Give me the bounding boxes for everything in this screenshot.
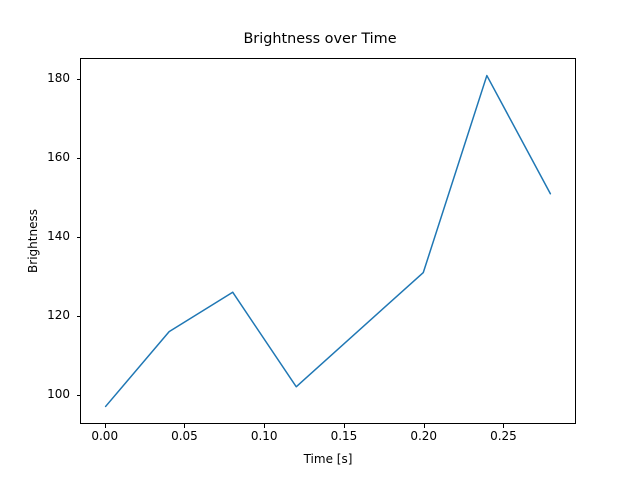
x-tick-label: 0.15 bbox=[314, 429, 374, 443]
x-tick-label: 0.25 bbox=[473, 429, 533, 443]
x-tick-mark bbox=[264, 424, 265, 428]
x-tick-label: 0.00 bbox=[75, 429, 135, 443]
plot-axes bbox=[80, 58, 576, 424]
x-tick-label: 0.20 bbox=[394, 429, 454, 443]
x-tick-mark bbox=[344, 424, 345, 428]
figure-canvas: Brightness over Time Brightness Time [s]… bbox=[0, 0, 640, 480]
x-tick-mark bbox=[105, 424, 106, 428]
data-series-brightness bbox=[106, 76, 551, 407]
x-tick-mark bbox=[503, 424, 504, 428]
x-tick-label: 0.10 bbox=[234, 429, 294, 443]
y-tick-label: 140 bbox=[10, 229, 70, 243]
y-tick-label: 180 bbox=[10, 71, 70, 85]
line-plot bbox=[81, 59, 575, 423]
y-tick-label: 100 bbox=[10, 387, 70, 401]
y-tick-label: 160 bbox=[10, 150, 70, 164]
y-tick-label: 120 bbox=[10, 308, 70, 322]
x-tick-label: 0.05 bbox=[154, 429, 214, 443]
x-tick-mark bbox=[424, 424, 425, 428]
x-tick-mark bbox=[184, 424, 185, 428]
